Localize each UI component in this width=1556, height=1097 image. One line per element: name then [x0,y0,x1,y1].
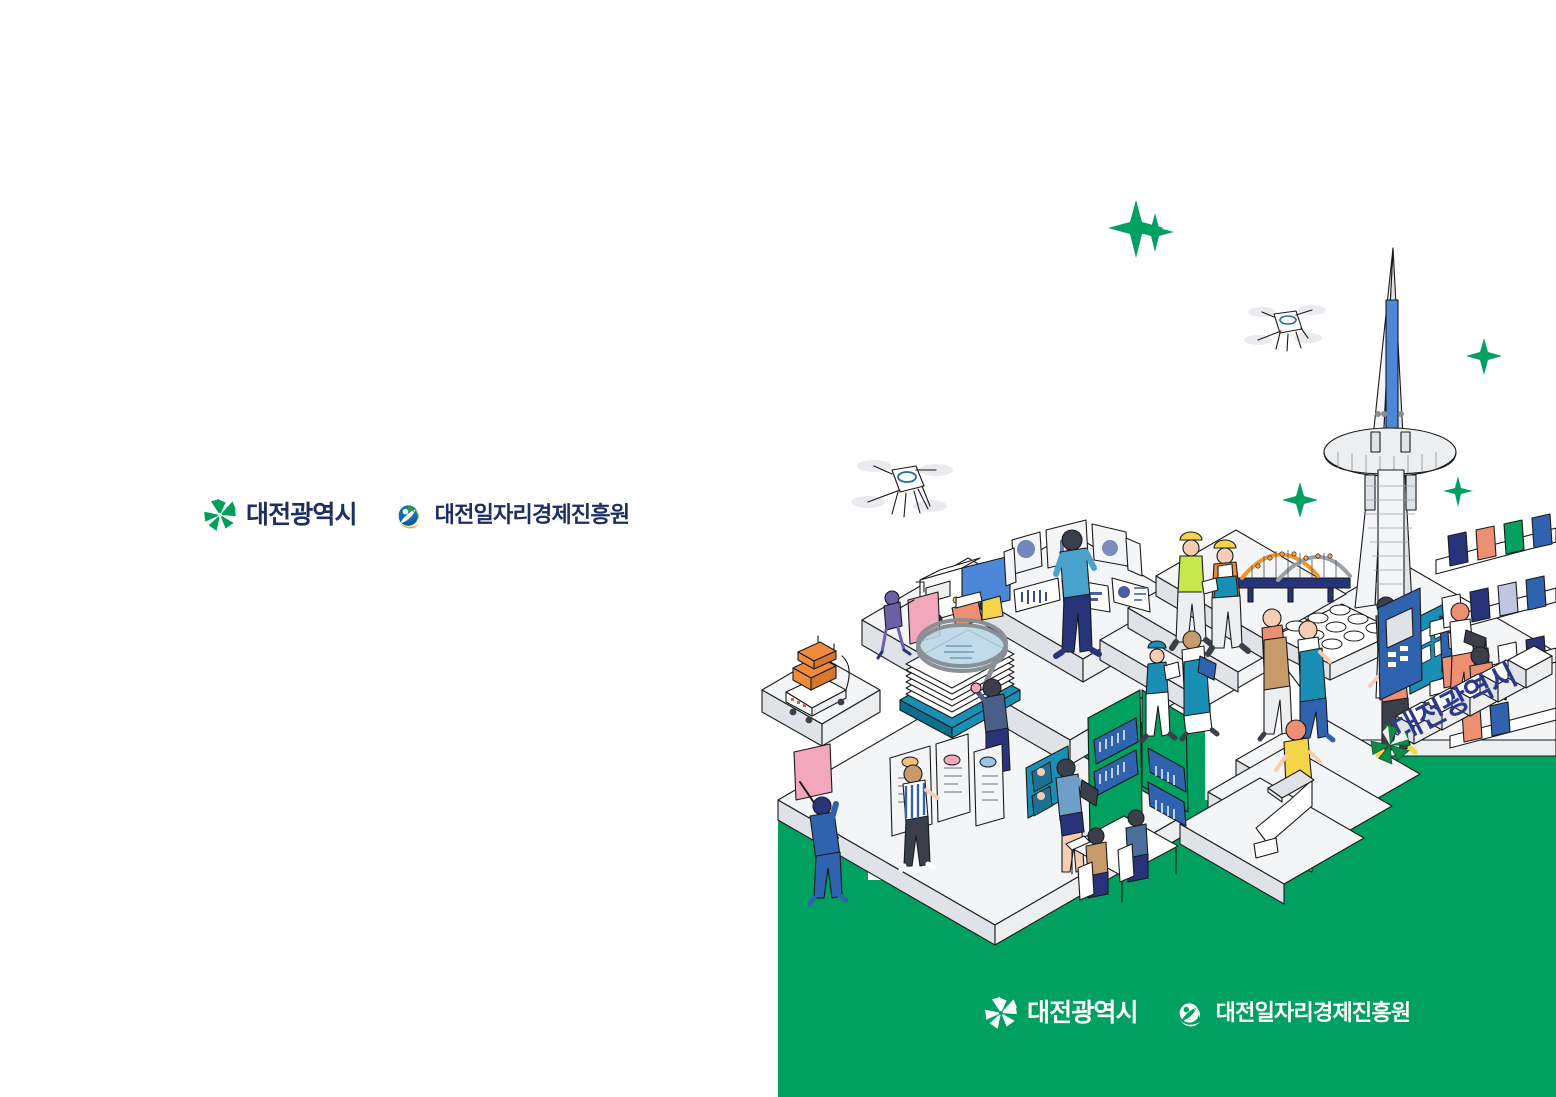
chef-2 [1296,621,1333,743]
city-logo-label-front: 대전광역시 [1027,1001,1138,1026]
job-posting-board [890,734,1004,870]
shelf-row-1 [1436,514,1556,574]
delivery-robot [786,636,849,723]
front-cover-city-logo: 대전광역시 [984,996,1138,1030]
green-base-block [778,880,1556,1097]
shelf-row-2 [1430,576,1556,636]
green-step-1 [778,820,868,890]
data-dashboard-worker [1004,520,1150,656]
hanbit-tower [1324,248,1456,608]
green-step-4 [1220,840,1340,890]
city-sign-text: 대전광역시 [1388,658,1521,748]
job-seeker-person [901,765,938,870]
traveler-with-suitcase [878,582,940,658]
back-cover-logo-bar: 대전광역시 대전일자리경제진흥원 [203,498,629,532]
sparkles [1108,200,1502,518]
menu-board [1408,600,1454,694]
sparkle-top-left [1108,200,1164,258]
kiosk-machine [1378,588,1422,700]
green-step-6 [1085,718,1205,838]
back-cover-city-logo: 대전광역시 [203,498,357,532]
chef-1 [1260,609,1297,739]
green-step-5 [1330,740,1556,890]
sparkle-mid-left [1282,482,1318,518]
sparkle-mid-right [1443,476,1473,507]
delivery-drone-lower [851,460,953,517]
agency-logo-label-front: 대전일자리경제진흥원 [1216,1002,1411,1024]
delivery-drone-upper [1244,305,1326,351]
retail-display-shelves [1378,514,1556,748]
front-cover-logo-bar: 대전광역시 대전일자리경제진흥원 [984,996,1410,1030]
cover-spread-page: .ln { fill:none; stroke:#1a1a1a; stroke-… [0,0,1556,1097]
restaurant-kitchen [1260,597,1488,755]
daejeon-pinwheel-logo-icon-white [984,996,1018,1030]
green-step-7 [960,592,1022,712]
city-logo-label: 대전광역시 [246,503,357,528]
construction-workers [1172,532,1248,654]
retail-staff-standing [1450,603,1486,706]
agency-logo-label: 대전일자리경제진흥원 [435,504,630,526]
laptop-user-on-stairs [1254,720,1320,858]
daejeon-job-economy-agency-logo-icon [393,498,427,532]
daejeon-pinwheel-logo-icon [203,498,237,532]
retail-staff-crouching [1470,647,1508,706]
kitchen-equipment [1440,616,1488,696]
customer-woman [1370,639,1416,755]
back-cover-agency-logo: 대전일자리경제진흥원 [393,498,630,532]
front-cover-agency-logo: 대전일자리경제진흥원 [1174,996,1411,1030]
shelf-row-3 [1430,636,1556,696]
green-step-2 [960,860,1120,890]
sparkle-top-left-small [1136,213,1174,252]
sparkle-right [1466,338,1502,375]
expo-bridge [1232,550,1350,602]
daejeon-job-economy-agency-logo-icon-white [1174,996,1208,1030]
video-screen-wall [1026,746,1070,818]
customer-man [1376,597,1402,698]
dashboard-person [1056,530,1099,656]
